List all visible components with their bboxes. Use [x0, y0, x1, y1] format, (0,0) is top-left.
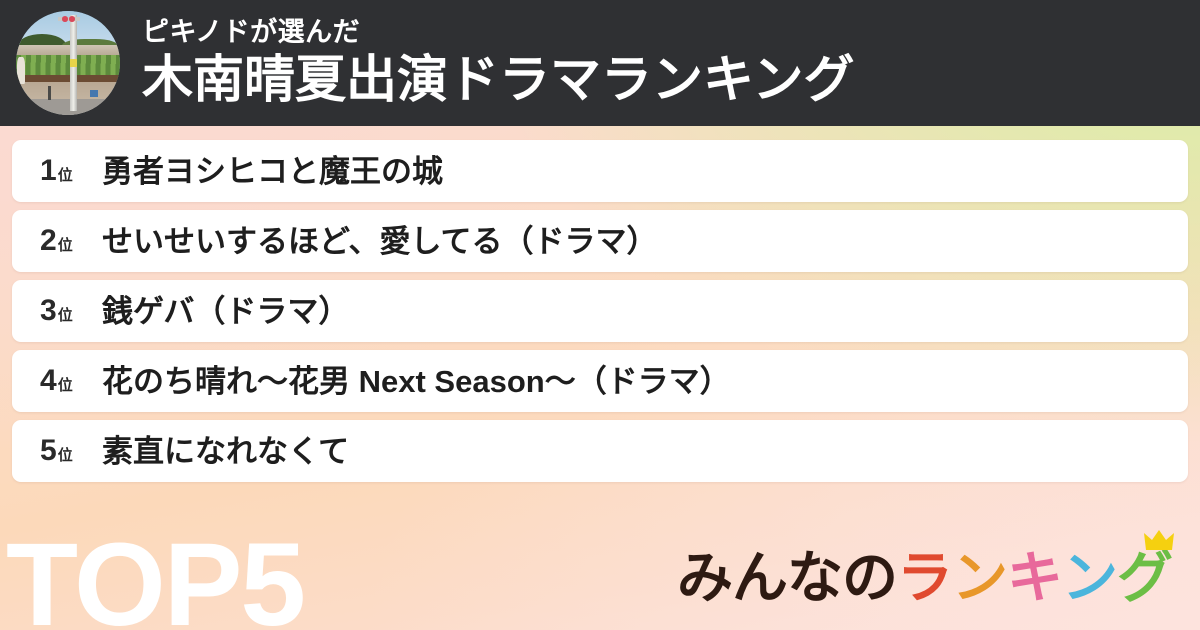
- rank-number: 3位: [40, 296, 96, 326]
- logo-char-ki: キ: [1007, 550, 1062, 606]
- rank-suffix: 位: [58, 308, 73, 323]
- logo-text-colored: ラ ン キ ン グ: [897, 550, 1172, 606]
- logo-text-dark: みんなの: [677, 550, 897, 606]
- avatar-sign: [62, 13, 76, 25]
- avatar: [16, 11, 120, 115]
- logo-char-n2: ン: [1062, 550, 1117, 606]
- top5-label: TOP5: [6, 526, 304, 630]
- rank-title: 勇者ヨシヒコと魔王の城: [102, 156, 443, 187]
- avatar-person: [17, 57, 25, 84]
- poster-subtitle: ピキノドが選んだ: [142, 19, 854, 46]
- avatar-blue-object: [90, 90, 98, 97]
- rank-suffix: 位: [58, 238, 73, 253]
- rank-suffix: 位: [58, 168, 73, 183]
- crown-icon: [1144, 530, 1174, 552]
- rank-number: 2位: [40, 226, 96, 256]
- list-item[interactable]: 1位 勇者ヨシヒコと魔王の城: [12, 140, 1188, 202]
- rank-value: 3: [40, 296, 57, 326]
- rank-number: 1位: [40, 156, 96, 186]
- ranking-poster: ピキノドが選んだ 木南晴夏出演ドラマランキング 1位 勇者ヨシヒコと魔王の城 2…: [0, 0, 1200, 630]
- rank-number: 4位: [40, 366, 96, 396]
- rank-title: 銭ゲバ（ドラマ）: [102, 296, 349, 327]
- list-item[interactable]: 5位 素直になれなくて: [12, 420, 1188, 482]
- logo-char-ra: ラ: [897, 550, 952, 606]
- header-titles: ピキノドが選んだ 木南晴夏出演ドラマランキング: [142, 19, 854, 106]
- rank-value: 4: [40, 366, 57, 396]
- rank-number: 5位: [40, 436, 96, 466]
- list-item[interactable]: 4位 花のち晴れ〜花男 Next Season〜（ドラマ）: [12, 350, 1188, 412]
- rank-title: 素直になれなくて: [102, 436, 349, 467]
- rank-title: せいせいするほど、愛してる（ドラマ）: [102, 226, 658, 257]
- avatar-road: [16, 99, 120, 115]
- ranking-list: 1位 勇者ヨシヒコと魔王の城 2位 せいせいするほど、愛してる（ドラマ） 3位 …: [12, 140, 1188, 490]
- rank-value: 1: [40, 156, 57, 186]
- rank-suffix: 位: [58, 378, 73, 393]
- list-item[interactable]: 3位 銭ゲバ（ドラマ）: [12, 280, 1188, 342]
- avatar-post: [48, 86, 51, 101]
- avatar-pole-marker: [70, 59, 77, 67]
- rank-value: 5: [40, 436, 57, 466]
- logo-char-gu: グ: [1117, 550, 1172, 606]
- rank-value: 2: [40, 226, 57, 256]
- list-item[interactable]: 2位 せいせいするほど、愛してる（ドラマ）: [12, 210, 1188, 272]
- page-title: 木南晴夏出演ドラマランキング: [142, 53, 854, 106]
- site-logo[interactable]: みんなの ラ ン キ ン グ: [677, 540, 1172, 606]
- rank-title: 花のち晴れ〜花男 Next Season〜（ドラマ）: [102, 366, 731, 397]
- poster-header: ピキノドが選んだ 木南晴夏出演ドラマランキング: [0, 0, 1200, 126]
- rank-suffix: 位: [58, 448, 73, 463]
- logo-char-n1: ン: [952, 550, 1007, 606]
